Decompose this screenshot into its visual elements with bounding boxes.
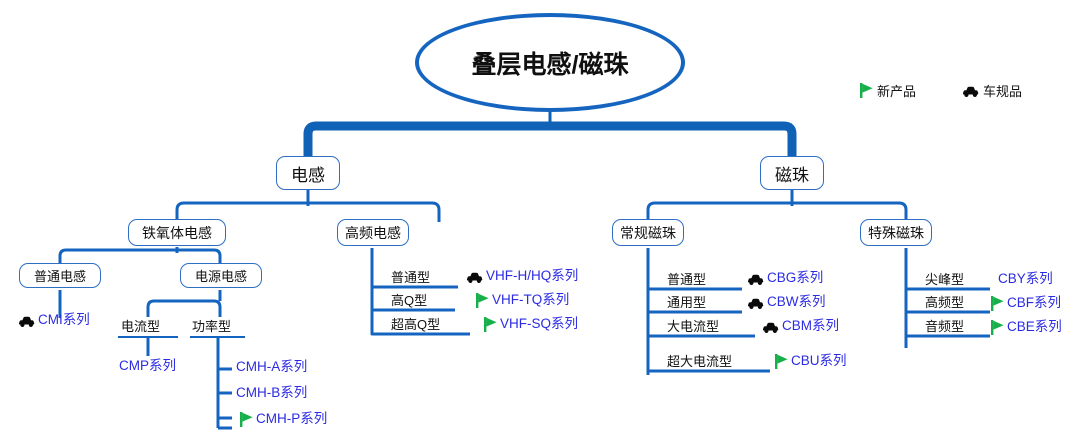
leaf-hf-highq-label: 高Q型 [391, 293, 427, 308]
series-cbm[interactable]: CBM系列 [762, 318, 839, 334]
series-cby[interactable]: CBY系列 [998, 271, 1053, 287]
series-cbg[interactable]: CBG系列 [747, 270, 823, 286]
series-cbg-label: CBG系列 [767, 270, 823, 286]
series-vhf-sq-label: VHF-SQ系列 [500, 316, 578, 332]
node-power-inductor-label: 电源电感 [195, 266, 247, 285]
flag-icon [860, 83, 873, 98]
series-cbu[interactable]: CBU系列 [775, 353, 847, 369]
series-cmh-b[interactable]: CMH-B系列 [236, 385, 307, 401]
series-cmh-p-label: CMH-P系列 [256, 411, 327, 427]
node-special-bead[interactable]: 特殊磁珠 [860, 219, 932, 246]
car-icon [747, 297, 764, 310]
car-icon [962, 85, 979, 98]
leaf-power-type[interactable]: 功率型 [192, 319, 231, 334]
series-vhf-h[interactable]: VHF-H/HQ系列 [466, 268, 578, 284]
series-cbe[interactable]: CBE系列 [991, 319, 1062, 335]
leaf-hf-normal[interactable]: 普通型 [391, 270, 430, 285]
leaf-bead-ultracurrent-label: 超大电流型 [667, 354, 732, 369]
node-common-inductor-label: 普通电感 [34, 266, 86, 285]
node-ferrite-inductor[interactable]: 铁氧体电感 [128, 219, 226, 246]
node-ferrite-bead[interactable]: 磁珠 [760, 156, 824, 190]
node-inductor[interactable]: 电感 [276, 156, 340, 190]
series-cbf-label: CBF系列 [1007, 295, 1061, 311]
leaf-hf-highq[interactable]: 高Q型 [391, 293, 427, 308]
car-icon [762, 321, 779, 334]
series-cbf[interactable]: CBF系列 [991, 295, 1061, 311]
flag-icon [991, 320, 1004, 335]
leaf-special-peak-label: 尖峰型 [925, 272, 964, 287]
leaf-bead-normal-label: 普通型 [667, 272, 706, 287]
node-ferrite-inductor-label: 铁氧体电感 [142, 223, 212, 243]
series-cbw-label: CBW系列 [767, 294, 826, 310]
series-cbe-label: CBE系列 [1007, 319, 1062, 335]
leaf-bead-ultracurrent[interactable]: 超大电流型 [667, 354, 732, 369]
leaf-special-audio-label: 音频型 [925, 319, 964, 334]
series-vhf-tq[interactable]: VHF-TQ系列 [476, 292, 569, 308]
root-node[interactable]: 叠层电感/磁珠 [415, 13, 685, 112]
node-special-bead-label: 特殊磁珠 [868, 223, 924, 243]
leaf-special-peak[interactable]: 尖峰型 [925, 272, 964, 287]
car-icon [747, 273, 764, 286]
series-cmi[interactable]: CMI系列 [18, 312, 90, 328]
leaf-bead-general[interactable]: 通用型 [667, 295, 706, 310]
series-cmh-a[interactable]: CMH-A系列 [236, 359, 307, 375]
page-title: 叠层电感/磁珠 [472, 45, 629, 81]
series-cmp-label: CMP系列 [119, 358, 176, 374]
leaf-hf-normal-label: 普通型 [391, 270, 430, 285]
series-cbm-label: CBM系列 [782, 318, 839, 334]
legend-item-new-product: 新产品 [860, 81, 916, 100]
leaf-current-type[interactable]: 电流型 [121, 319, 160, 334]
leaf-bead-normal[interactable]: 普通型 [667, 272, 706, 287]
flag-icon [484, 317, 497, 332]
leaf-hf-ultrahighq-label: 超高Q型 [391, 317, 440, 332]
mindmap-canvas: 叠层电感/磁珠 新产品 车规品 电感 磁珠 铁氧体电感 高频电感 [0, 0, 1090, 447]
leaf-hf-ultrahighq[interactable]: 超高Q型 [391, 317, 440, 332]
series-cbw[interactable]: CBW系列 [747, 294, 826, 310]
series-cmh-p[interactable]: CMH-P系列 [240, 411, 327, 427]
node-hf-inductor[interactable]: 高频电感 [337, 219, 409, 246]
flag-icon [991, 296, 1004, 311]
series-cmh-a-label: CMH-A系列 [236, 359, 307, 375]
series-vhf-sq[interactable]: VHF-SQ系列 [484, 316, 578, 332]
flag-icon [775, 354, 788, 369]
series-cbu-label: CBU系列 [791, 353, 847, 369]
node-normal-bead-label: 常规磁珠 [620, 223, 676, 243]
node-hf-inductor-label: 高频电感 [345, 223, 401, 243]
car-icon [466, 271, 483, 284]
leaf-power-type-label: 功率型 [192, 319, 231, 334]
leaf-special-hf[interactable]: 高频型 [925, 295, 964, 310]
series-vhf-tq-label: VHF-TQ系列 [492, 292, 569, 308]
leaf-current-type-label: 电流型 [121, 319, 160, 334]
leaf-bead-general-label: 通用型 [667, 295, 706, 310]
node-common-inductor[interactable]: 普通电感 [19, 263, 101, 288]
leaf-special-hf-label: 高频型 [925, 295, 964, 310]
series-cmh-b-label: CMH-B系列 [236, 385, 307, 401]
leaf-bead-highcurrent[interactable]: 大电流型 [667, 319, 719, 334]
node-ferrite-bead-label: 磁珠 [775, 161, 809, 186]
legend-label-new-product: 新产品 [877, 81, 916, 100]
series-cby-label: CBY系列 [998, 271, 1053, 287]
legend-item-automotive: 车规品 [962, 81, 1022, 100]
flag-icon [476, 293, 489, 308]
node-normal-bead[interactable]: 常规磁珠 [612, 219, 684, 246]
leaf-bead-highcurrent-label: 大电流型 [667, 319, 719, 334]
series-cmi-label: CMI系列 [38, 312, 90, 328]
legend-label-automotive: 车规品 [983, 81, 1022, 100]
car-icon [18, 315, 35, 328]
leaf-special-audio[interactable]: 音频型 [925, 319, 964, 334]
series-vhf-h-label: VHF-H/HQ系列 [486, 268, 578, 284]
node-inductor-label: 电感 [291, 161, 325, 186]
node-power-inductor[interactable]: 电源电感 [180, 263, 262, 288]
flag-icon [240, 412, 253, 427]
series-cmp[interactable]: CMP系列 [119, 358, 176, 374]
